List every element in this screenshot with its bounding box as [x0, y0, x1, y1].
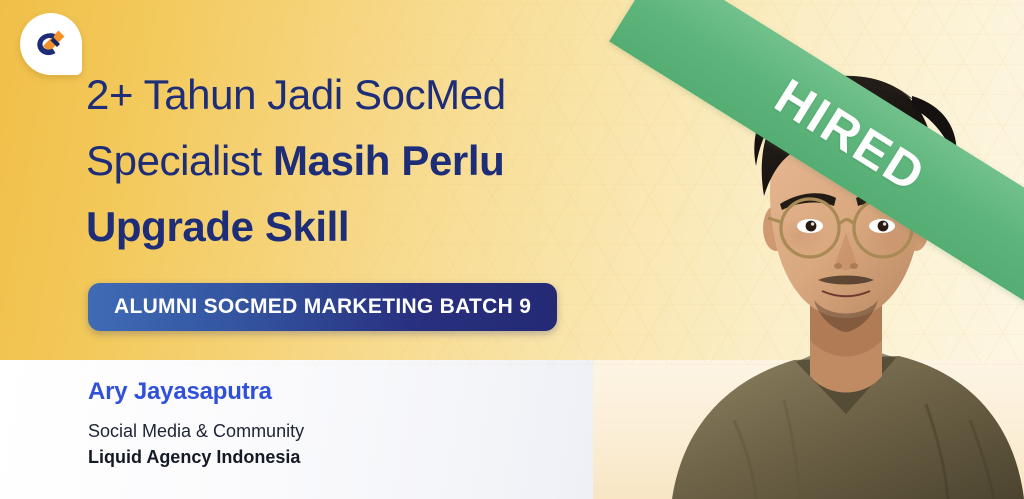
headline-line-3-bold: Upgrade Skill — [86, 203, 349, 250]
testimonial-card: HIRED 2+ Tahun Jadi SocMed Specialist Ma… — [0, 0, 1024, 499]
person-info: Ary Jayasaputra Social Media & Community… — [88, 378, 568, 470]
program-badge: ALUMNI SOCMED MARKETING BATCH 9 — [88, 283, 557, 331]
headline-line-2-bold: Masih Perlu — [273, 137, 504, 184]
headline: 2+ Tahun Jadi SocMed Specialist Masih Pe… — [86, 62, 606, 260]
brand-logo[interactable] — [20, 13, 82, 75]
person-name: Ary Jayasaputra — [88, 378, 568, 406]
headline-line-3: Upgrade Skill — [86, 194, 606, 260]
program-badge-label: ALUMNI SOCMED MARKETING BATCH 9 — [114, 295, 531, 319]
person-role: Social Media & Community — [88, 418, 568, 444]
person-company: Liquid Agency Indonesia — [88, 444, 568, 470]
headline-line-2-regular: Specialist — [86, 137, 273, 184]
headline-line-1-text: 2+ Tahun Jadi SocMed — [86, 71, 506, 118]
headline-line-1: 2+ Tahun Jadi SocMed — [86, 62, 606, 128]
headline-line-2: Specialist Masih Perlu — [86, 128, 606, 194]
dibimbing-logo-icon — [33, 27, 69, 61]
